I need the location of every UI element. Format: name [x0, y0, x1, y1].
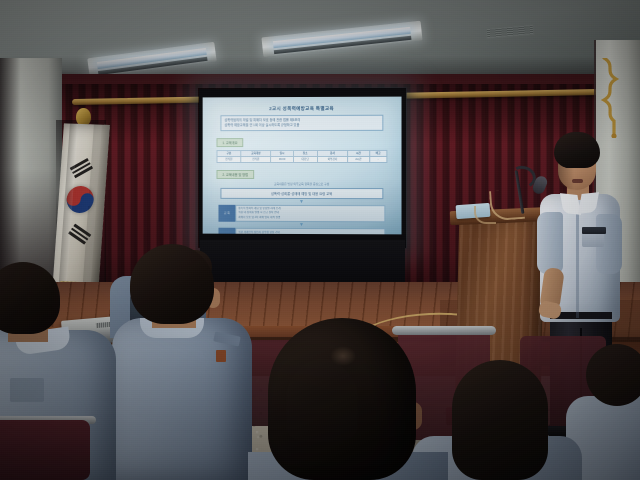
fixture-shadow-strip [98, 57, 208, 75]
slide-table-cell: 2시간 [348, 156, 370, 162]
slide-table-cell: 전직원 [217, 156, 241, 162]
audience-head [586, 344, 640, 406]
presenter-sleeve-left [537, 212, 563, 274]
slide-table-cell: 09:00 [271, 156, 293, 162]
presenter-shirt-pocket [582, 232, 604, 247]
ceiling-light-fixture-left [87, 42, 217, 79]
audience-shirt-pocket [10, 378, 44, 402]
screen-lower-dark-panel [200, 240, 405, 282]
projection-screen-surface: 2교시 성폭력예방교육 특별교육 성폭력범죄의 처벌 및 피해자 보호 등에 관… [203, 97, 402, 235]
slide-block-2: 기 대 효 과 직원 개개인의 성인지 감수성 향상 기대 건전하고 안전한 근… [218, 228, 385, 235]
auditorium-chair [0, 420, 90, 480]
slide-block-2-body: 직원 개개인의 성인지 감수성 향상 기대 건전하고 안전한 근무 환경 조성에… [235, 228, 385, 235]
gold-tassel-cord-icon [600, 58, 622, 138]
slide-bullet: 피해자 보호 및 2차 피해 방지 대책 설명 [238, 215, 382, 219]
slide-block-1: 교 육 성폭력 범죄의 개념 및 유형별 사례 소개 직장 내 성희롱 발생 시… [218, 205, 385, 222]
projection-screen: 2교시 성폭력예방교육 특별교육 성폭력범죄의 처벌 및 피해자 보호 등에 관… [199, 88, 407, 249]
slide-bar-caption: 교육내용은 법정 의무교육 항목을 중심으로 구성 [226, 182, 377, 186]
presenter-mouth [572, 179, 583, 183]
presenter-name-badge [582, 227, 606, 234]
slide-block-1-label: 교 육 [218, 205, 235, 222]
slide-section-label-1: 1. 교육개요 [216, 138, 243, 147]
slide-table: 구분 교육대상 일시 장소 강사 시간 비고 전직원 전직원 09:00 대강당… [216, 150, 387, 163]
photograph-auditorium-presentation: 2교시 성폭력예방교육 특별교육 성폭력범죄의 처벌 및 피해자 보호 등에 관… [0, 0, 640, 480]
slide-content: 2교시 성폭력예방교육 특별교육 성폭력범죄의 처벌 및 피해자 보호 등에 관… [203, 97, 402, 235]
slide-title: 2교시 성폭력예방교육 특별교육 [213, 106, 392, 113]
slide-arrow-icon-2: ▼ [213, 223, 392, 228]
slide-block-1-body: 성폭력 범죄의 개념 및 유형별 사례 소개 직장 내 성희롱 발생 시 신고 … [235, 205, 385, 222]
chair-frame-rail [392, 326, 496, 335]
slide-table-row: 전직원 전직원 09:00 대강당 외부강사 2시간 - [217, 156, 387, 162]
slide-table-cell: 대강당 [293, 156, 317, 162]
audience-hair-crown [330, 346, 356, 366]
audience-badge [216, 350, 226, 362]
ceiling-light-fixture-center [261, 21, 422, 58]
slide-emphasis-bar: 성폭력·성희롱·성매매 예방 및 대응 요령 교육 [220, 188, 383, 199]
slide-table-cell: - [369, 156, 387, 162]
audience-head [130, 244, 214, 324]
audience-head [268, 318, 416, 480]
presenter-shirt-placket [576, 206, 579, 318]
slide-callout-box: 성폭력범죄의 처벌 및 피해자 보호 등에 관한 법률 제5조의 성폭력 예방교… [220, 115, 383, 131]
slide-callout-line-2: 성폭력 예방교육을 연 1회 이상 실시하도록 규정하고 있음 [224, 123, 379, 128]
fluorescent-tube [97, 48, 207, 69]
slide-arrow-icon-1: ▼ [213, 200, 392, 204]
audience-head [452, 360, 548, 480]
slide-table-cell: 전직원 [241, 156, 271, 162]
air-vent-icon [486, 24, 535, 39]
slide-table-cell: 외부강사 [317, 156, 348, 162]
presenter-hair [554, 132, 600, 168]
slide-section-label-2: 2. 교육내용 및 방법 [216, 170, 254, 179]
slide-block-2-label: 기 대 효 과 [218, 228, 235, 235]
